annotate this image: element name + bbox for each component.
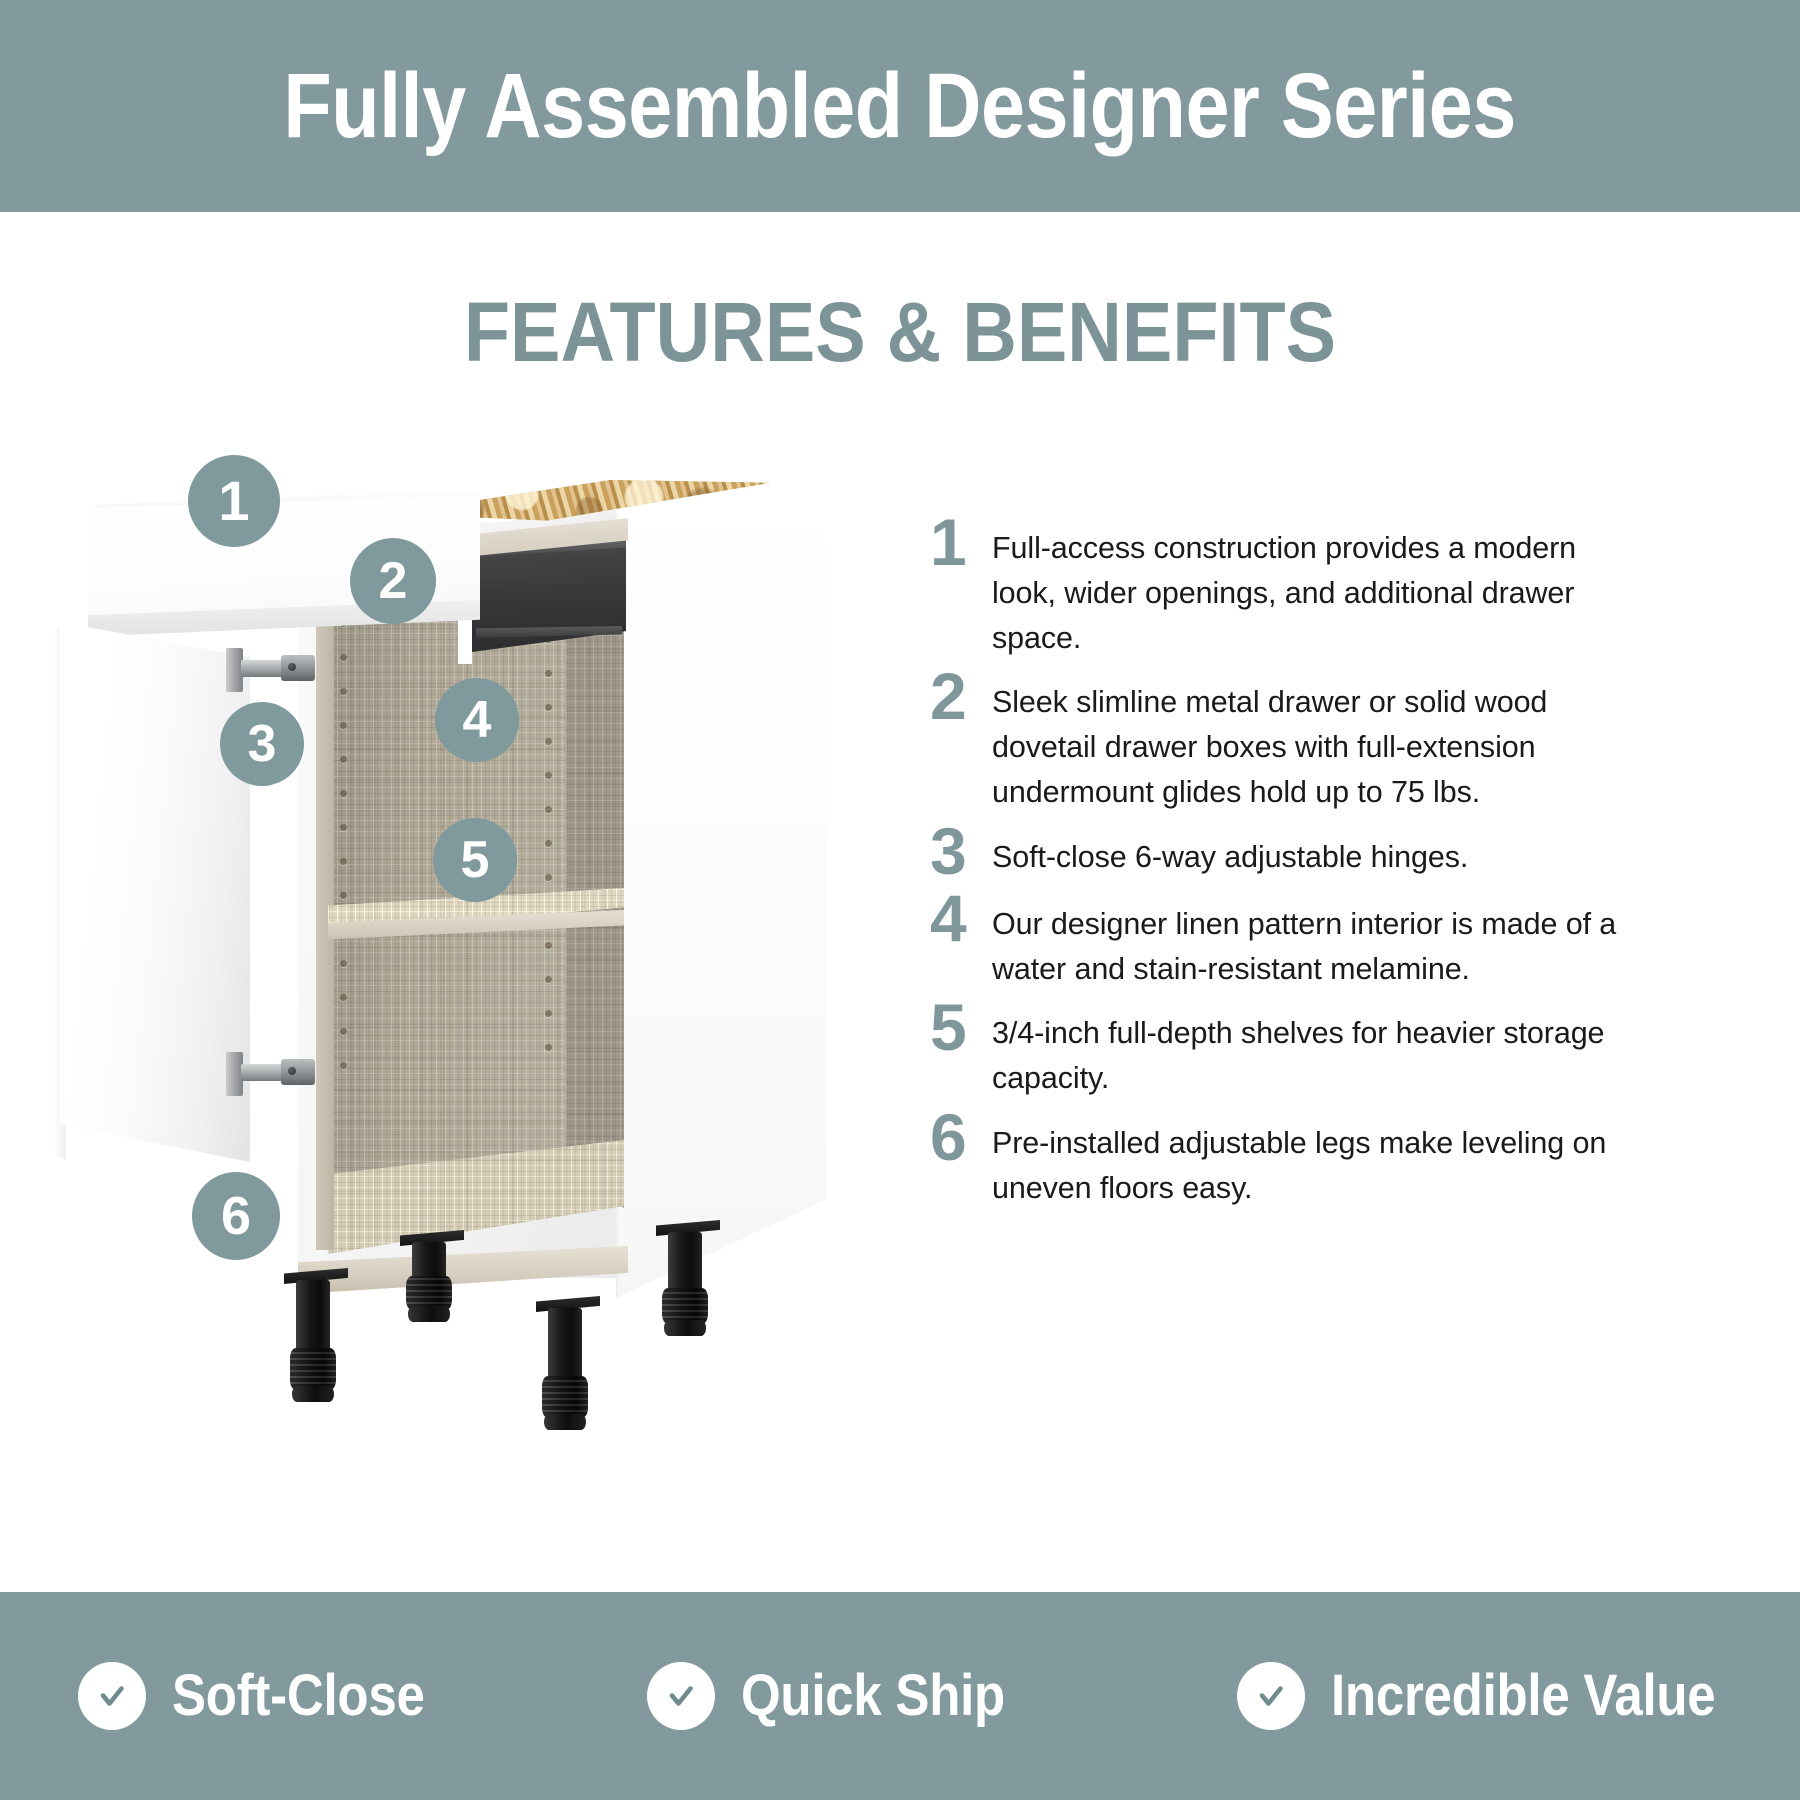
footer-banner: Soft-Close Quick Ship Incredible Value [0, 1592, 1800, 1800]
check-icon [1237, 1662, 1305, 1730]
feature-item-1: 1 Full-access construction provides a mo… [930, 520, 1630, 660]
callout-badge-4[interactable]: 4 [435, 678, 519, 762]
product-illustration: 1 2 3 4 5 6 [40, 440, 910, 1430]
feature-item-6: 6 Pre-installed adjustable legs make lev… [930, 1115, 1630, 1211]
feature-item-2: 2 Sleek slimline metal drawer or solid w… [930, 674, 1630, 814]
soft-close-hinge-upper [226, 646, 318, 694]
cabinet-interior-left-edge [316, 550, 334, 1250]
footer-item-quick-ship: Quick Ship [647, 1662, 1041, 1730]
callout-badge-2[interactable]: 2 [350, 538, 436, 624]
callout-badge-1[interactable]: 1 [188, 455, 280, 547]
callout-badge-5[interactable]: 5 [433, 818, 517, 902]
callout-badge-6[interactable]: 6 [192, 1172, 280, 1260]
header-banner: Fully Assembled Designer Series [0, 0, 1800, 212]
cabinet-right-panel [616, 478, 826, 1298]
callout-badge-3[interactable]: 3 [220, 702, 304, 786]
feature-number-6: 6 [930, 1107, 992, 1168]
feature-number-5: 5 [930, 997, 992, 1058]
section-heading: FEATURES & BENEFITS [90, 290, 1710, 374]
footer-item-soft-close: Soft-Close [78, 1662, 459, 1730]
soft-close-hinge-lower [226, 1050, 318, 1098]
features-list: 1 Full-access construction provides a mo… [930, 520, 1630, 1225]
cabinet-door-open [60, 622, 250, 1162]
shelf-pin-holes-left [340, 620, 347, 1069]
feature-text-3: Soft-close 6-way adjustable hinges. [992, 829, 1630, 880]
feature-number-3: 3 [930, 821, 992, 882]
footer-label-incredible-value: Incredible Value [1331, 1667, 1715, 1725]
check-icon [647, 1662, 715, 1730]
cabinet-interior-side-wall [566, 568, 624, 1208]
page-title: Fully Assembled Designer Series [284, 60, 1517, 152]
feature-item-4: 4 Our designer linen pattern interior is… [930, 896, 1630, 992]
feature-number-2: 2 [930, 666, 992, 727]
check-icon [78, 1662, 146, 1730]
feature-text-4: Our designer linen pattern interior is m… [992, 896, 1630, 992]
footer-label-quick-ship: Quick Ship [741, 1667, 1005, 1725]
shelf-pin-holes-right [545, 636, 552, 1051]
feature-text-5: 3/4-inch full-depth shelves for heavier … [992, 1005, 1630, 1101]
footer-label-soft-close: Soft-Close [172, 1667, 425, 1725]
feature-number-1: 1 [930, 512, 992, 573]
footer-item-incredible-value: Incredible Value [1237, 1662, 1768, 1730]
feature-text-6: Pre-installed adjustable legs make level… [992, 1115, 1630, 1211]
feature-text-1: Full-access construction provides a mode… [992, 520, 1630, 660]
feature-item-3: 3 Soft-close 6-way adjustable hinges. [930, 829, 1630, 882]
feature-item-5: 5 3/4-inch full-depth shelves for heavie… [930, 1005, 1630, 1101]
feature-text-2: Sleek slimline metal drawer or solid woo… [992, 674, 1630, 814]
feature-number-4: 4 [930, 888, 992, 949]
